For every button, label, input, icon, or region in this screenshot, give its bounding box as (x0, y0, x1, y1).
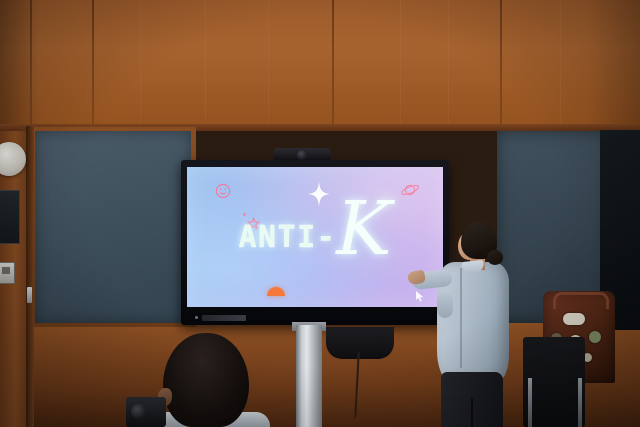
slide-title-prefix: ANTI- (238, 220, 336, 255)
chair-leg (578, 378, 582, 427)
wall-control-plate[interactable] (0, 262, 15, 284)
wood-grain (400, 0, 401, 128)
presenter-hair-bun (487, 250, 503, 265)
display-control-strip[interactable] (202, 315, 246, 321)
wood-grain (560, 0, 561, 128)
recording-camera (126, 397, 166, 427)
display-stand-column (296, 325, 322, 427)
wood-grain (448, 0, 449, 128)
cursor-icon (415, 289, 426, 300)
wood-grain (268, 0, 269, 128)
door-handle[interactable] (27, 287, 32, 303)
presentation-photo-scene: ANTI- K (0, 0, 640, 427)
smiley-face-icon (215, 183, 231, 204)
slide-title-script-letter: K (336, 203, 391, 256)
shirt-placket (460, 268, 462, 368)
audience-head (163, 333, 249, 427)
planet-icon (400, 182, 420, 203)
wood-seam (92, 0, 94, 128)
wall-dark-plate (0, 190, 20, 244)
wood-seam (30, 0, 32, 128)
wood-grain (140, 0, 141, 128)
slide-title: ANTI- K (187, 219, 443, 256)
power-led-icon (195, 316, 198, 319)
wood-grain (205, 0, 206, 128)
wood-seam (332, 0, 334, 128)
cart-handle[interactable] (553, 292, 609, 309)
dome-shape-icon (267, 287, 285, 296)
sparkle-icon (307, 181, 331, 212)
presenter-forearm (437, 292, 453, 318)
equipment-bag (326, 327, 394, 359)
acoustic-panel-left (35, 131, 191, 323)
presentation-display[interactable]: ANTI- K (181, 160, 449, 325)
door-jamb (26, 126, 34, 427)
chair-leg (528, 378, 532, 427)
wood-seam (500, 0, 502, 128)
pants-seam (471, 398, 473, 427)
display-screen[interactable]: ANTI- K (187, 167, 443, 307)
folding-chair (523, 337, 585, 427)
sticker (563, 313, 585, 325)
upper-wood-wall (0, 0, 640, 128)
sticker (589, 331, 601, 343)
dot-icon (243, 213, 246, 216)
